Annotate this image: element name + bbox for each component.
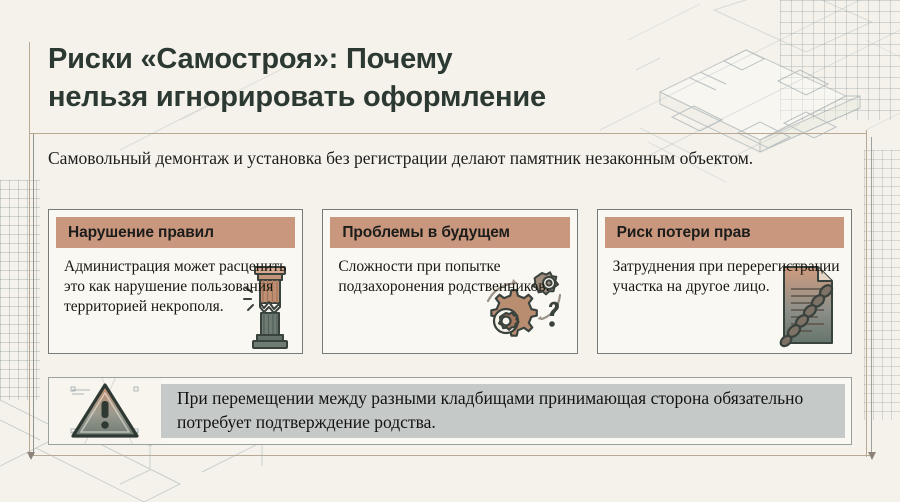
callout-icon-pane: [49, 378, 161, 444]
blueprint-grid-left: [0, 180, 40, 400]
frame-line-left-inner: [33, 133, 34, 455]
warning-triangle-icon: [68, 380, 142, 442]
card-heading: Риск потери прав: [617, 224, 751, 242]
title-line-2: нельзя игнорировать оформление: [48, 78, 668, 116]
card-heading: Нарушение правил: [68, 224, 214, 242]
card-body: Сложности при попытке подзахоронения род…: [330, 257, 569, 347]
frame-tick-left-icon: [27, 452, 35, 460]
callout-text: При перемещении между разными кладбищами…: [177, 387, 829, 435]
frame-line-right-inner: [871, 137, 872, 457]
card-header-band: Нарушение правил: [56, 217, 295, 248]
card-body-text: Затруднения при перерегистрации участка …: [613, 257, 840, 297]
frame-tick-right-icon: [868, 452, 876, 460]
callout-text-box: При перемещении между разными кладбищами…: [161, 384, 845, 438]
blueprint-grid-right: [864, 150, 900, 420]
card-heading: Проблемы в будущем: [342, 224, 510, 242]
blueprint-grid-top-right: [780, 0, 900, 120]
card-body: Администрация может расценить это как на…: [56, 257, 295, 347]
card-body-text: Администрация может расценить это как на…: [64, 257, 291, 316]
card-future-problems[interactable]: Проблемы в будущем Сложности при попытке…: [322, 209, 577, 354]
cards-row: Нарушение правил Администрация может рас…: [48, 209, 852, 354]
card-body-text: Сложности при попытке подзахоронения род…: [338, 257, 565, 297]
lead-paragraph: Самовольный демонтаж и установка без рег…: [48, 146, 808, 171]
card-risk-of-losing-rights[interactable]: Риск потери прав Затруднения при перерег…: [597, 209, 852, 354]
frame-line-left-outer: [29, 42, 30, 457]
page-title: Риски «Самостроя»: Почему нельзя игнорир…: [48, 40, 668, 117]
card-header-band: Риск потери прав: [605, 217, 844, 248]
frame-line-top: [29, 133, 867, 134]
card-header-band: Проблемы в будущем: [330, 217, 569, 248]
slide-root: Риски «Самостроя»: Почему нельзя игнорир…: [0, 0, 900, 502]
frame-line-bottom: [33, 455, 871, 456]
card-body: Затруднения при перерегистрации участка …: [605, 257, 844, 347]
title-line-1: Риски «Самостроя»: Почему: [48, 40, 668, 78]
callout-banner: При перемещении между разными кладбищами…: [48, 377, 852, 445]
card-violation-of-rules[interactable]: Нарушение правил Администрация может рас…: [48, 209, 303, 354]
frame-line-right-outer: [866, 130, 867, 457]
